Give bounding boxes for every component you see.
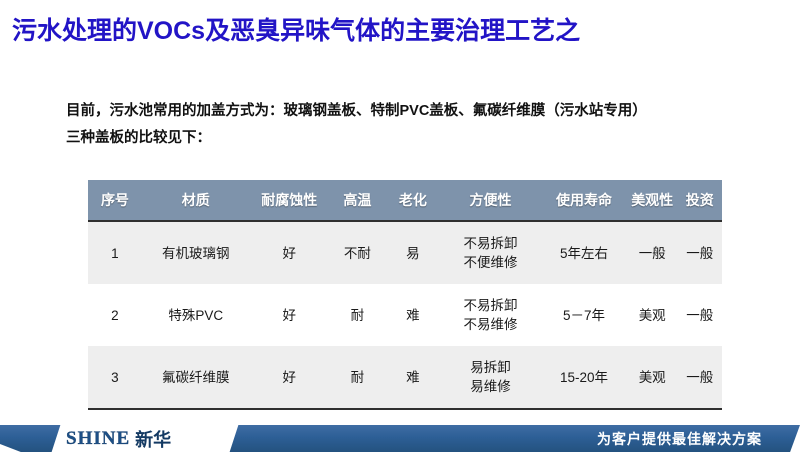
cell-material: 有机玻璃钢 — [142, 221, 250, 284]
cell-aging: 难 — [386, 284, 440, 346]
column-header-temperature: 高温 — [329, 180, 386, 221]
cell-convenience-line-2: 易维修 — [441, 377, 540, 396]
cell-aging: 难 — [386, 346, 440, 409]
cell-corrosion: 好 — [250, 221, 329, 284]
intro-paragraph: 目前，污水池常用的加盖方式为：玻璃钢盖板、特制PVC盖板、氟碳纤维膜（污水站专用… — [66, 98, 776, 152]
cell-material: 氟碳纤维膜 — [142, 346, 250, 409]
cell-convenience: 易拆卸 易维修 — [440, 346, 541, 409]
cell-appearance: 一般 — [627, 221, 678, 284]
cell-lifespan: 5年左右 — [541, 221, 627, 284]
cell-investment: 一般 — [678, 346, 722, 409]
cell-convenience-line-2: 不便维修 — [441, 253, 540, 272]
intro-line-1: 目前，污水池常用的加盖方式为：玻璃钢盖板、特制PVC盖板、氟碳纤维膜（污水站专用… — [66, 98, 776, 125]
cell-index: 2 — [88, 284, 142, 346]
slide-canvas: 污水处理的VOCs及恶臭异味气体的主要治理工艺之 目前，污水池常用的加盖方式为：… — [0, 0, 800, 454]
table-header: 序号 材质 耐腐蚀性 高温 老化 方便性 使用寿命 美观性 投资 — [88, 180, 722, 221]
cell-corrosion: 好 — [250, 346, 329, 409]
brand-logo-cn: 新华 — [135, 426, 171, 452]
cell-index: 3 — [88, 346, 142, 409]
column-header-convenience: 方便性 — [440, 180, 541, 221]
cell-convenience-line-1: 不易拆卸 — [441, 296, 540, 315]
comparison-table-container: 序号 材质 耐腐蚀性 高温 老化 方便性 使用寿命 美观性 投资 1 有机玻璃钢… — [88, 180, 722, 410]
table-row: 1 有机玻璃钢 好 不耐 易 不易拆卸 不便维修 5年左右 一般 一般 — [88, 221, 722, 284]
cell-convenience-line-2: 不易维修 — [441, 315, 540, 334]
intro-line-2: 三种盖板的比较见下： — [66, 125, 776, 152]
column-header-corrosion: 耐腐蚀性 — [250, 180, 329, 221]
footer-tagline: 为客户提供最佳解决方案 — [597, 425, 762, 452]
cell-investment: 一般 — [678, 221, 722, 284]
footer-bar: SHINE 新华 为客户提供最佳解决方案 — [0, 421, 800, 454]
cell-investment: 一般 — [678, 284, 722, 346]
cell-lifespan: 5－7年 — [541, 284, 627, 346]
column-header-aging: 老化 — [386, 180, 440, 221]
cell-temperature: 不耐 — [329, 221, 386, 284]
table-row: 2 特殊PVC 好 耐 难 不易拆卸 不易维修 5－7年 美观 一般 — [88, 284, 722, 346]
cell-convenience-line-1: 不易拆卸 — [441, 234, 540, 253]
column-header-material: 材质 — [142, 180, 250, 221]
cell-temperature: 耐 — [329, 346, 386, 409]
cell-index: 1 — [88, 221, 142, 284]
cell-appearance: 美观 — [627, 284, 678, 346]
column-header-index: 序号 — [88, 180, 142, 221]
comparison-table: 序号 材质 耐腐蚀性 高温 老化 方便性 使用寿命 美观性 投资 1 有机玻璃钢… — [88, 180, 722, 410]
page-title: 污水处理的VOCs及恶臭异味气体的主要治理工艺之 — [12, 14, 782, 48]
cell-material: 特殊PVC — [142, 284, 250, 346]
table-body: 1 有机玻璃钢 好 不耐 易 不易拆卸 不便维修 5年左右 一般 一般 2 特殊… — [88, 221, 722, 409]
cell-corrosion: 好 — [250, 284, 329, 346]
cell-temperature: 耐 — [329, 284, 386, 346]
cell-convenience-line-1: 易拆卸 — [441, 358, 540, 377]
brand-logo: SHINE 新华 — [66, 427, 171, 450]
cell-appearance: 美观 — [627, 346, 678, 409]
cell-convenience: 不易拆卸 不便维修 — [440, 221, 541, 284]
brand-logo-word: SHINE — [66, 428, 130, 450]
column-header-appearance: 美观性 — [627, 180, 678, 221]
table-header-row: 序号 材质 耐腐蚀性 高温 老化 方便性 使用寿命 美观性 投资 — [88, 180, 722, 221]
table-row: 3 氟碳纤维膜 好 耐 难 易拆卸 易维修 15-20年 美观 一般 — [88, 346, 722, 409]
column-header-lifespan: 使用寿命 — [541, 180, 627, 221]
column-header-investment: 投资 — [678, 180, 722, 221]
cell-aging: 易 — [386, 221, 440, 284]
cell-lifespan: 15-20年 — [541, 346, 627, 409]
cell-convenience: 不易拆卸 不易维修 — [440, 284, 541, 346]
